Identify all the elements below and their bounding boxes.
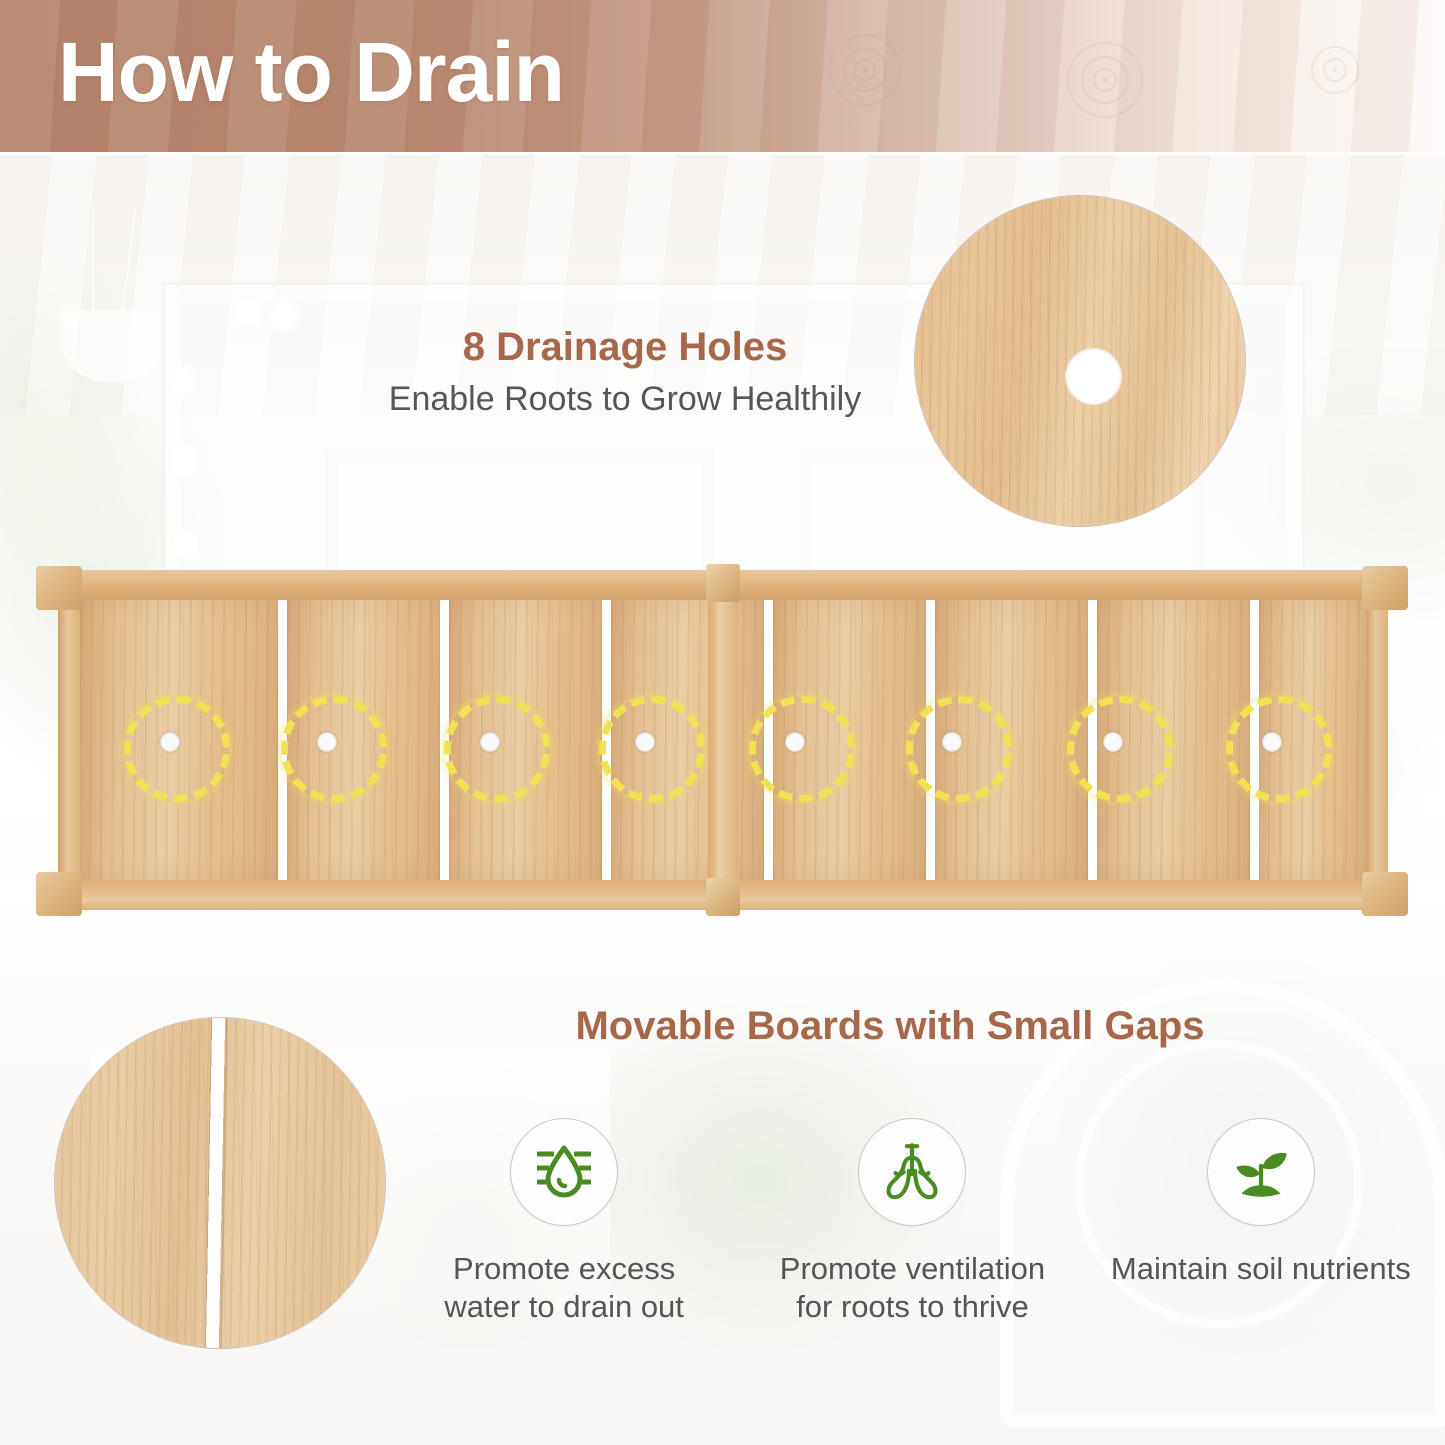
feature-icon-badge xyxy=(858,1118,966,1226)
water-drop-drain-icon xyxy=(532,1140,596,1204)
sprout-seedling-icon xyxy=(1228,1139,1294,1205)
sprout-leaf-right xyxy=(1262,1153,1287,1169)
feature-caption: Promote ventilation for roots to thrive xyxy=(767,1250,1057,1326)
boards-section-title: Movable Boards with Small Gaps xyxy=(400,1004,1380,1049)
feature-caption: Promote excess water to drain out xyxy=(419,1250,709,1326)
feature-item-drainage: Promote excess water to drain out xyxy=(390,1118,738,1358)
feature-icon-badge xyxy=(1207,1118,1315,1226)
infographic-canvas: How to Drain 8 Drainage Holes Enable Roo… xyxy=(0,0,1445,1445)
feature-caption: Maintain soil nutrients xyxy=(1111,1250,1411,1288)
planter-corner-joint xyxy=(1362,872,1408,916)
feature-list: Promote excess water to drain out Promot… xyxy=(390,1118,1435,1358)
sprout-leaf-left xyxy=(1236,1165,1260,1177)
feature-item-ventilation: Promote ventilation for roots to thrive xyxy=(738,1118,1086,1358)
header-wood-rings xyxy=(685,0,1445,152)
drainage-hole xyxy=(1262,732,1282,752)
drainage-hole xyxy=(635,732,655,752)
drainage-hole xyxy=(160,732,180,752)
planter-box-product-image xyxy=(22,560,1422,920)
droplet-highlight xyxy=(559,1180,565,1186)
planter-center-divider-post xyxy=(708,568,738,908)
drainage-hole xyxy=(942,732,962,752)
planter-corner-joint xyxy=(36,872,82,916)
header-banner: How to Drain xyxy=(0,0,1445,152)
planter-corner-joint xyxy=(36,566,82,610)
drainage-hole xyxy=(480,732,500,752)
planter-corner-joint xyxy=(1362,566,1408,610)
drainage-hole xyxy=(785,732,805,752)
board-gap-closeup-inset xyxy=(55,1018,385,1348)
planter-center-cap-top xyxy=(706,564,740,602)
lungs-ventilation-icon xyxy=(879,1139,945,1205)
drainage-hole xyxy=(317,732,337,752)
drainage-hole-icon xyxy=(1065,348,1122,405)
soil-mound xyxy=(1241,1185,1280,1196)
planter-side-post-left xyxy=(58,592,80,892)
drainage-hole-closeup-inset xyxy=(915,196,1245,526)
planter-center-cap-bottom xyxy=(706,878,740,916)
feature-icon-badge xyxy=(510,1118,618,1226)
planter-side-post-right xyxy=(1366,592,1388,892)
drainage-hole xyxy=(1103,732,1123,752)
page-title: How to Drain xyxy=(58,24,564,121)
feature-item-nutrients: Maintain soil nutrients xyxy=(1087,1118,1435,1358)
